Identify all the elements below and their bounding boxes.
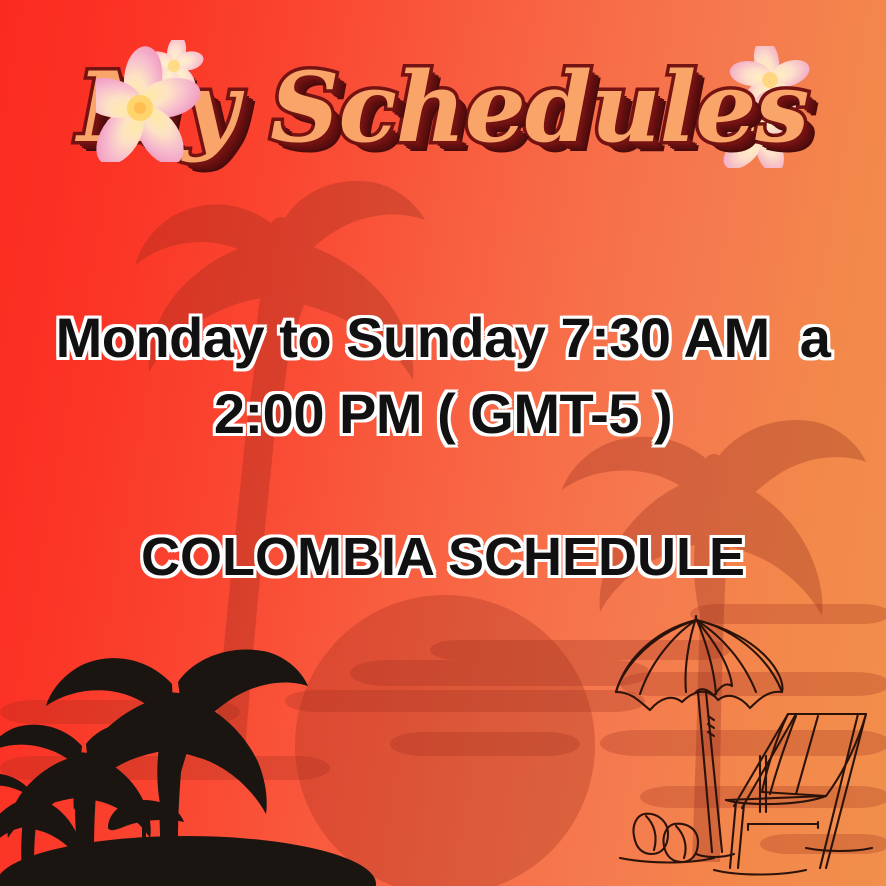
schedule-line-1: Monday to Sunday 7:30 AM a	[0, 300, 886, 376]
beach-umbrella-deckchair-icon	[610, 596, 882, 886]
schedule-poster: My Schedules	[0, 0, 886, 886]
plumeria-flower-icon	[96, 40, 216, 162]
beach-island-silhouette-icon	[0, 634, 386, 886]
schedule-text-block: Monday to Sunday 7:30 AM a 2:00 PM ( GMT…	[0, 300, 886, 590]
schedule-line-2: 2:00 PM ( GMT-5 )	[0, 376, 886, 452]
country-schedule-label: COLOMBIA SCHEDULE	[0, 524, 886, 590]
